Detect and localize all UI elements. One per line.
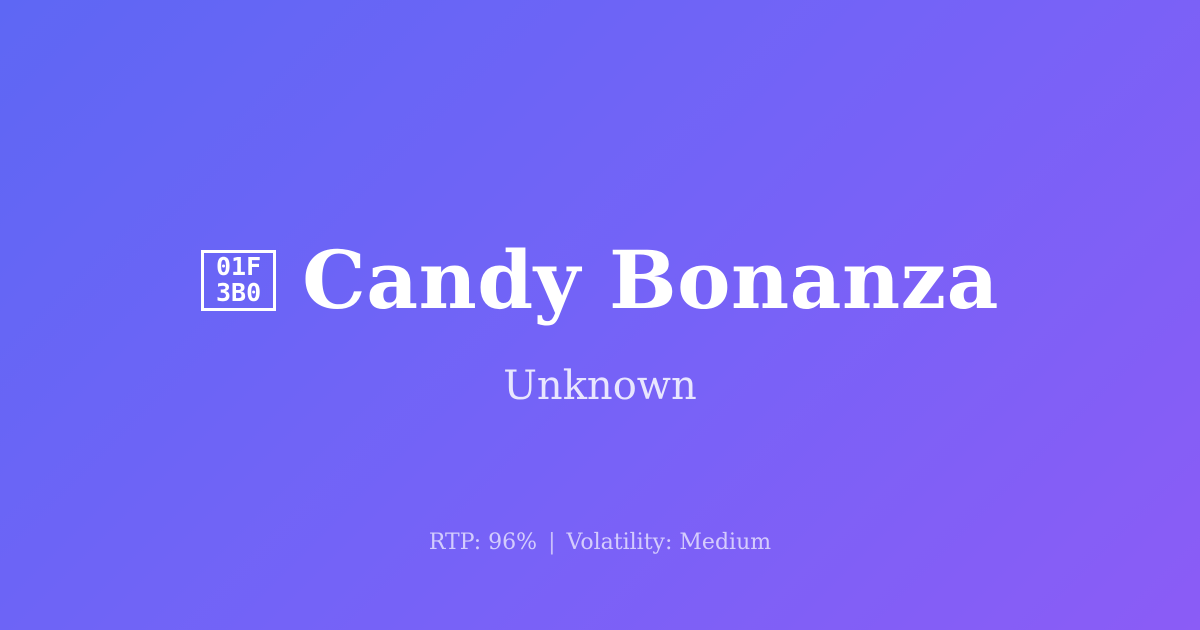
volatility-value: Medium [679, 530, 771, 555]
volatility-label: Volatility: [567, 530, 673, 555]
tofu-codepoint-top: 01F [216, 254, 261, 280]
slot-machine-icon: 01F 3B0 [201, 250, 276, 311]
game-provider: Unknown [0, 362, 1200, 410]
tofu-codepoint-bottom: 3B0 [216, 280, 261, 306]
rtp-value: 96% [488, 530, 537, 555]
title-row: 01F 3B0 Candy Bonanza [0, 232, 1200, 328]
game-title: Candy Bonanza [302, 236, 999, 324]
rtp-label: RTP: [429, 530, 481, 555]
stats-separator: | [544, 530, 559, 555]
game-preview-card: 01F 3B0 Candy Bonanza Unknown RTP: 96% |… [0, 0, 1200, 630]
game-stats: RTP: 96% | Volatility: Medium [0, 528, 1200, 558]
